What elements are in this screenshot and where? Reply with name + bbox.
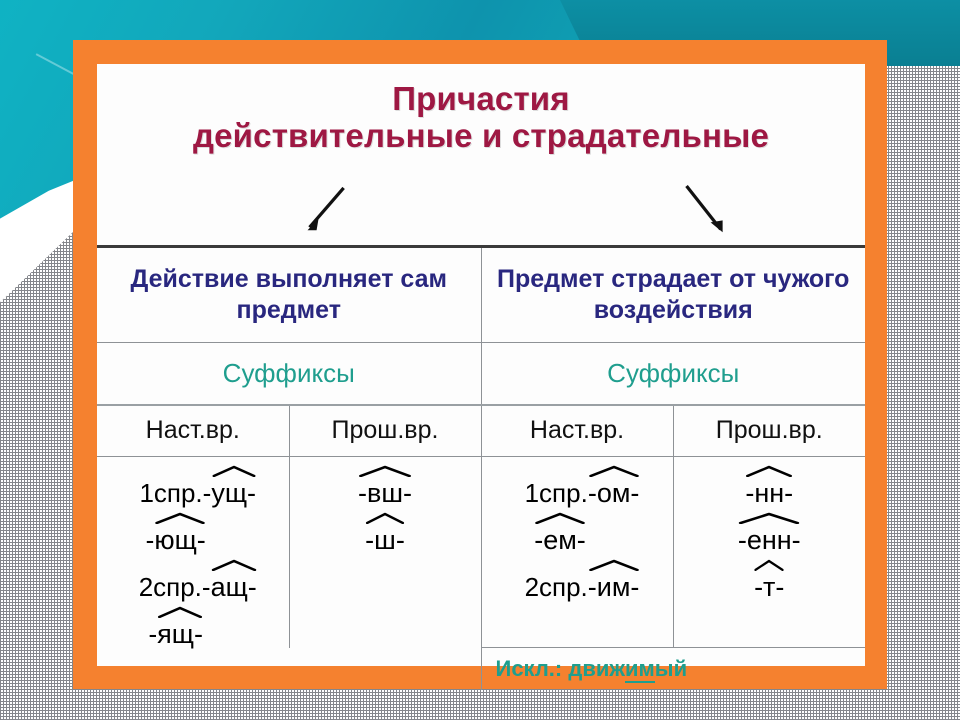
cell-suffixes-active-past: -вш--ш- [289,456,481,648]
suffix-core: -ем- [534,512,586,554]
suffix-list-passive-present: 1спр.-ом--ем-2спр.-им- [482,465,673,601]
cell-description-active: Действие выполняет сам предмет [97,248,481,342]
suffix-text: -енн- [738,525,801,555]
cell-exception-empty [97,648,481,690]
suffix-entry: -ющ- [146,512,240,554]
page-title-line-2: действительные и страдательные [97,118,865,155]
title-band: Причастия действительные и страдательные [97,64,865,248]
suffix-text: -ш- [365,525,405,555]
exception-word-after: ый [655,656,687,681]
suffix-list-active-present: 1спр.-ущ--ющ-2спр.-ащ--ящ- [97,465,289,648]
caret-icon [738,512,801,524]
cell-suffix-header-passive: Суффиксы [481,342,865,405]
suffix-text: ущ- [211,478,256,508]
suffix-prefix: 1спр.- [139,480,211,507]
caret-icon [588,465,640,477]
suffix-entry: -ш- [365,512,405,554]
suffix-entry: -вш- [358,465,412,507]
suffix-text: ящ- [157,619,203,649]
caret-icon [157,606,203,618]
suffix-entry: -т- [754,559,784,601]
table-row-descriptions: Действие выполняет сам предмет Предмет с… [97,248,865,342]
suffix-prefix: - [146,527,155,554]
caret-icon [754,559,784,571]
cell-tense-header-1: Наст.вр. [97,405,289,456]
table-row-tense-headers: Наст.вр. Прош.вр. Наст.вр. Прош.вр. [97,405,865,456]
table-row-suffix-headers: Суффиксы Суффиксы [97,342,865,405]
suffix-core: -ш- [365,512,405,554]
cell-tense-header-4: Прош.вр. [673,405,865,456]
cell-suffix-header-active: Суффиксы [97,342,481,405]
suffix-entry: 1спр.-ущ- [129,465,256,507]
suffix-core: ащ- [211,559,257,601]
suffix-entry: 2спр.-им- [515,559,640,601]
exception-label: Искл.: [496,656,569,681]
suffix-text: -им- [588,572,640,602]
cell-suffixes-active-present: 1спр.-ущ--ющ-2спр.-ащ--ящ- [97,456,289,648]
table-row-exception: Искл.: движимый [97,648,865,690]
suffix-list-passive-past: -нн--енн--т- [674,465,866,601]
caret-icon [154,512,205,524]
suffix-core: -нн- [745,465,793,507]
suffix-text: -нн- [745,478,793,508]
suffix-entry: 1спр.-ом- [515,465,640,507]
suffix-entry: -енн- [738,512,801,554]
cell-exception: Искл.: движимый [481,648,865,690]
caret-icon [211,465,256,477]
cell-suffixes-passive-past: -нн--енн--т- [673,456,865,648]
suffix-entry: 2спр.-ащ- [129,559,257,601]
table-row-suffix-bodies: 1спр.-ущ--ющ-2спр.-ащ--ящ- -вш--ш- 1спр.… [97,456,865,648]
suffix-text: -вш- [358,478,412,508]
suffix-entry: -ящ- [149,606,238,648]
page-title-line-1: Причастия [97,64,865,118]
suffix-text: ющ- [154,525,205,555]
exception-word-underlined: им [625,656,655,683]
suffix-core: -вш- [358,465,412,507]
suffix-core: ущ- [211,465,256,507]
suffix-prefix: 2спр. [525,574,588,601]
cell-tense-header-3: Наст.вр. [481,405,673,456]
caret-icon [365,512,405,524]
suffix-text: -ом- [588,478,640,508]
cell-suffixes-passive-present: 1спр.-ом--ем-2спр.-им- [481,456,673,648]
suffix-text: -т- [754,572,784,602]
cell-tense-header-2: Прош.вр. [289,405,481,456]
caret-icon [745,465,793,477]
suffix-core: ящ- [157,606,203,648]
suffix-core: -т- [754,559,784,601]
suffix-prefix: 1спр. [525,480,588,507]
suffix-entry: -нн- [745,465,793,507]
caret-icon [588,559,640,571]
caret-icon [358,465,412,477]
caret-icon [211,559,257,571]
suffix-prefix: 2спр.- [139,574,211,601]
exception-word-before: движ [568,656,625,681]
suffix-prefix: - [149,621,158,648]
suffix-text: ащ- [211,572,257,602]
suffix-text: -ем- [534,525,586,555]
suffix-core: -енн- [738,512,801,554]
suffix-core: ющ- [154,512,205,554]
suffix-entry: -ем- [534,512,620,554]
participle-table: Действие выполняет сам предмет Предмет с… [97,248,865,690]
suffix-core: -им- [588,559,640,601]
suffix-core: -ом- [588,465,640,507]
slide-canvas: Причастия действительные и страдательные… [0,0,960,720]
cell-description-passive: Предмет страдает от чужого воздействия [481,248,865,342]
orange-frame: Причастия действительные и страдательные… [73,40,887,689]
suffix-list-active-past: -вш--ш- [290,465,481,554]
caret-icon [534,512,586,524]
content-card: Причастия действительные и страдательные… [97,64,865,666]
